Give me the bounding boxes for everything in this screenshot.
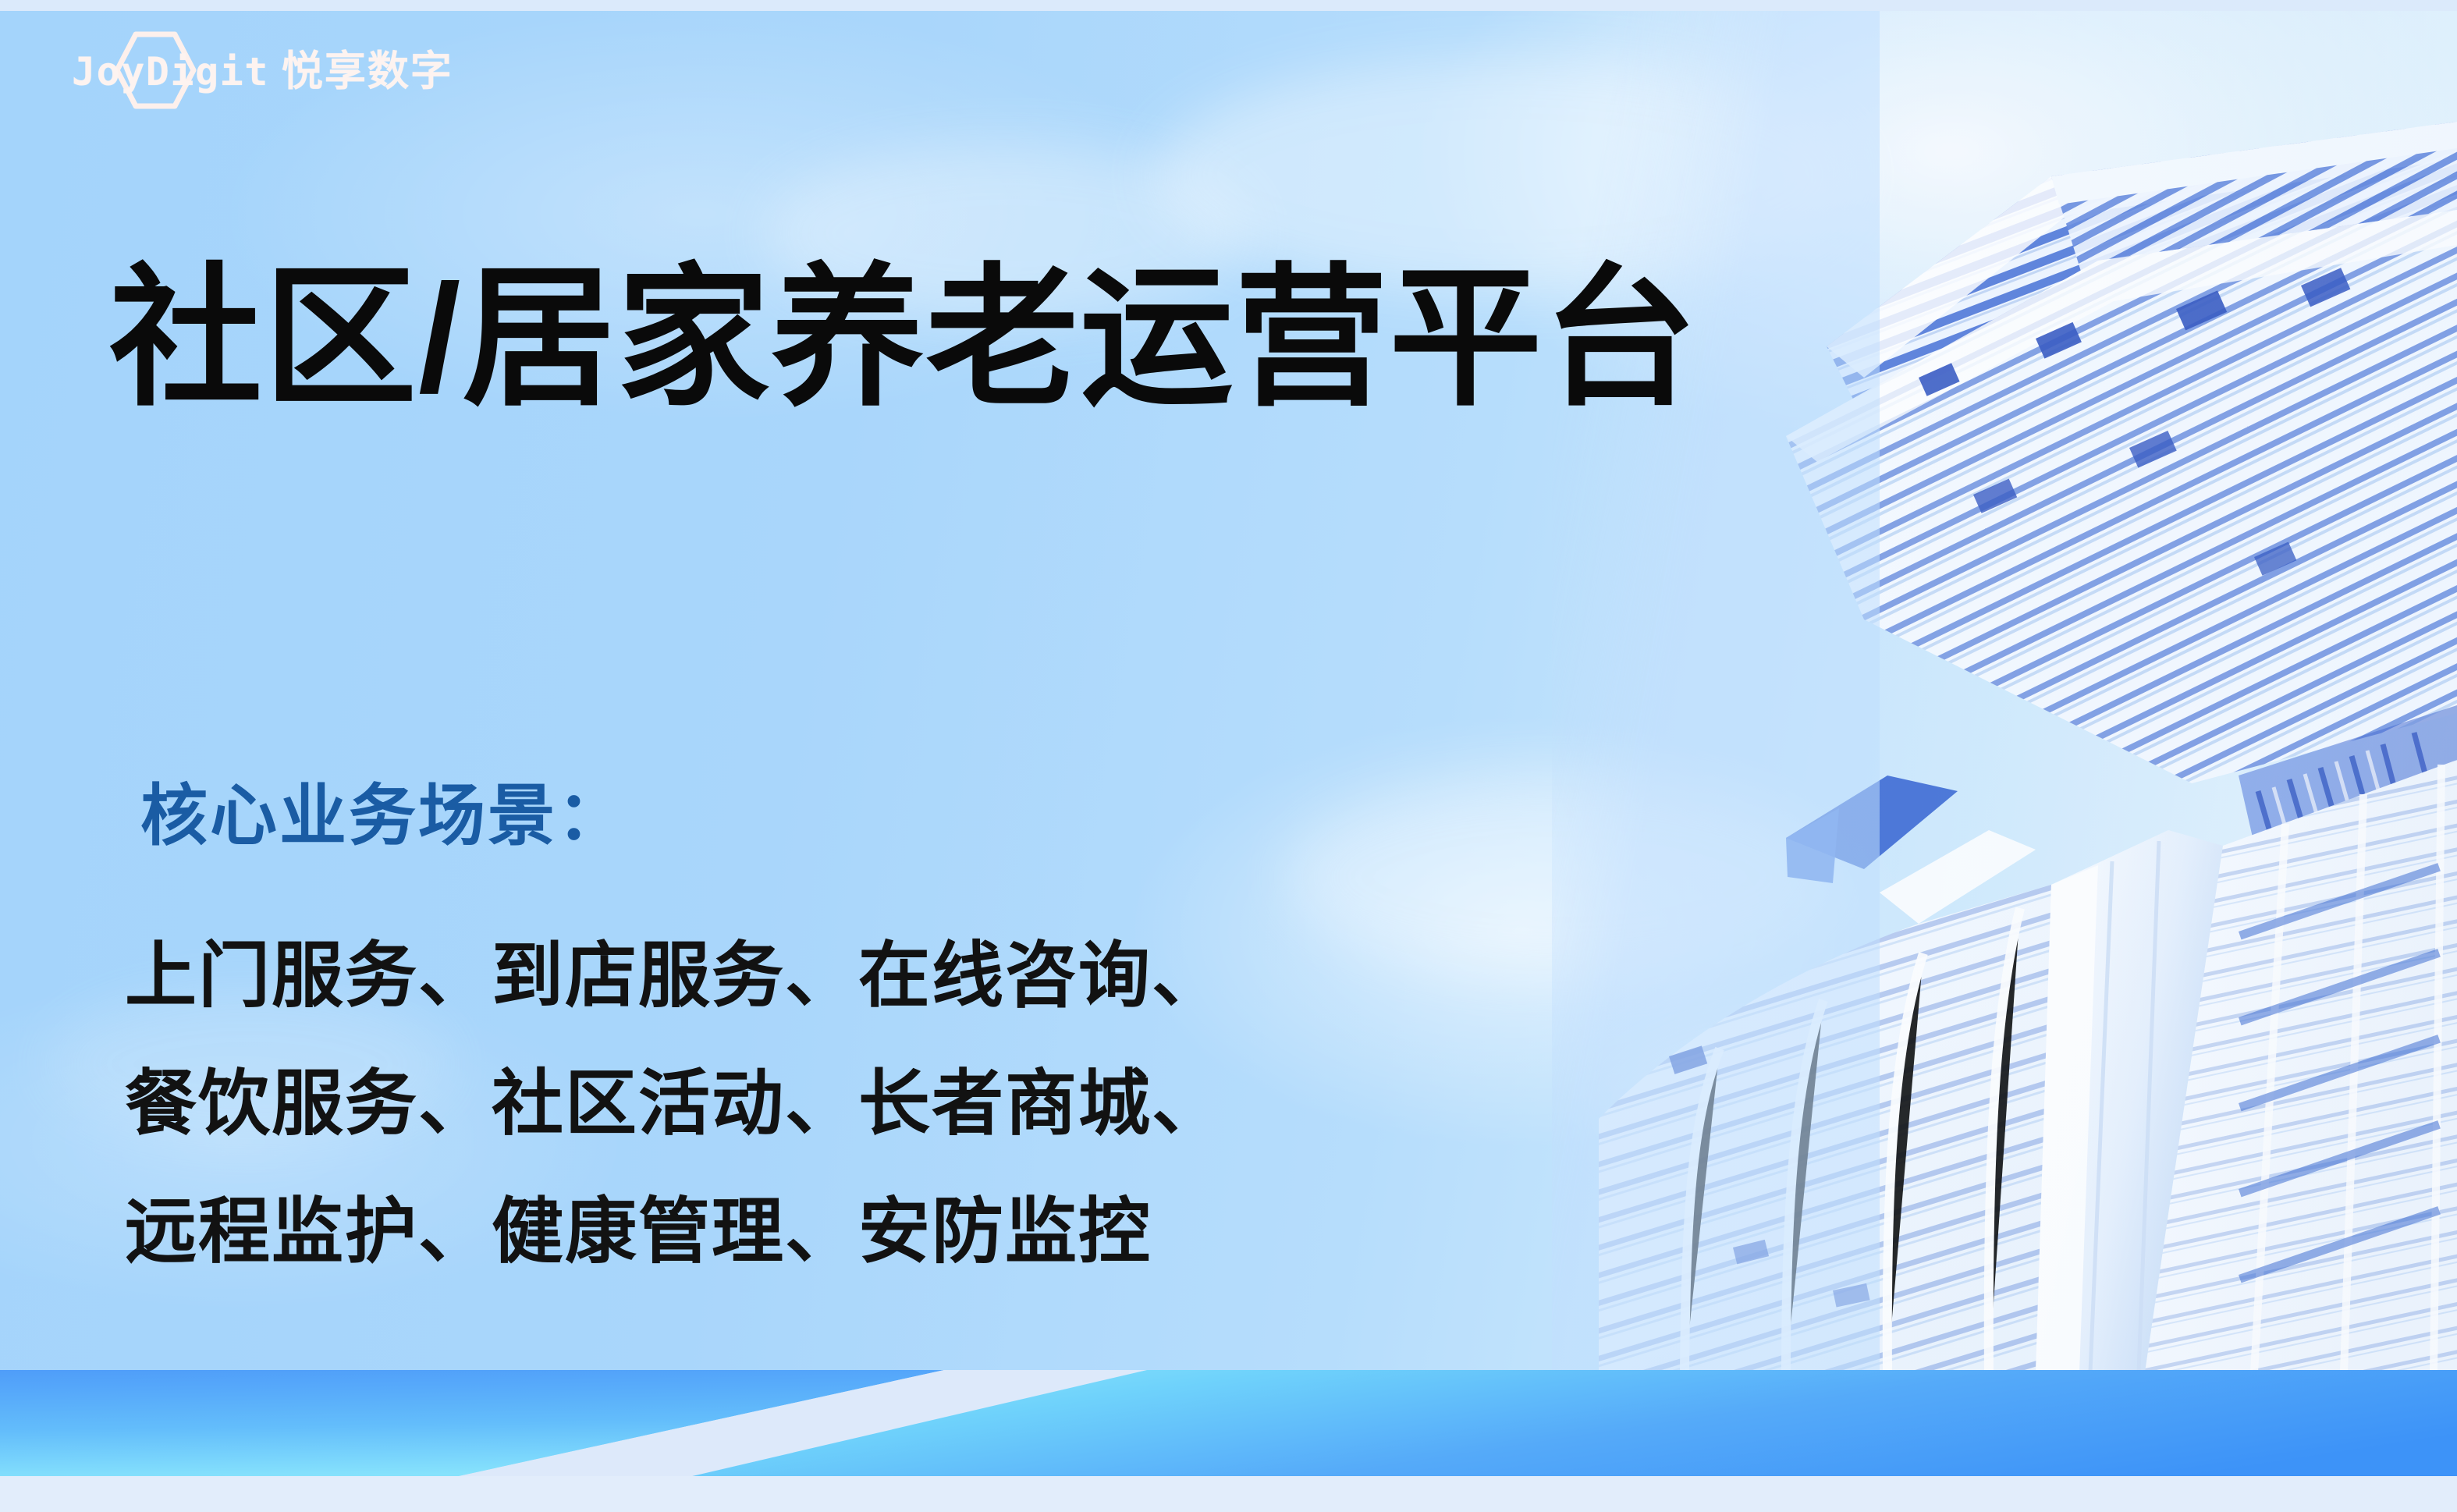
business-scenarios-list: 上门服务、到店服务、在线咨询、 餐饮服务、社区活动、长者商城、 远程监护、健康管…	[125, 913, 1225, 1296]
section-label: 核心业务场景：	[140, 761, 627, 858]
scenario-line: 上门服务、到店服务、在线咨询、	[125, 913, 1225, 1041]
scenario-line: 远程监护、健康管理、安防监控	[125, 1169, 1225, 1297]
scenario-line: 餐饮服务、社区活动、长者商城、	[125, 1041, 1225, 1169]
brand-logo-text: JoyDigit 悦享数字	[72, 38, 453, 98]
brand-latin-name: JoyDigit	[72, 49, 269, 94]
slide-root: JoyDigit 悦享数字 社区/居家养老运营平台 核心业务场景： 上门服务、到…	[0, 0, 2457, 1512]
page-title: 社区/居家养老运营平台	[109, 262, 1698, 415]
brand-logo[interactable]: JoyDigit 悦享数字	[72, 34, 453, 101]
brand-chinese-name: 悦享数字	[282, 38, 453, 98]
footer-strip	[0, 1476, 2457, 1512]
top-accent-strip	[0, 0, 2457, 11]
skyscraper-photo	[1552, 11, 2457, 1372]
